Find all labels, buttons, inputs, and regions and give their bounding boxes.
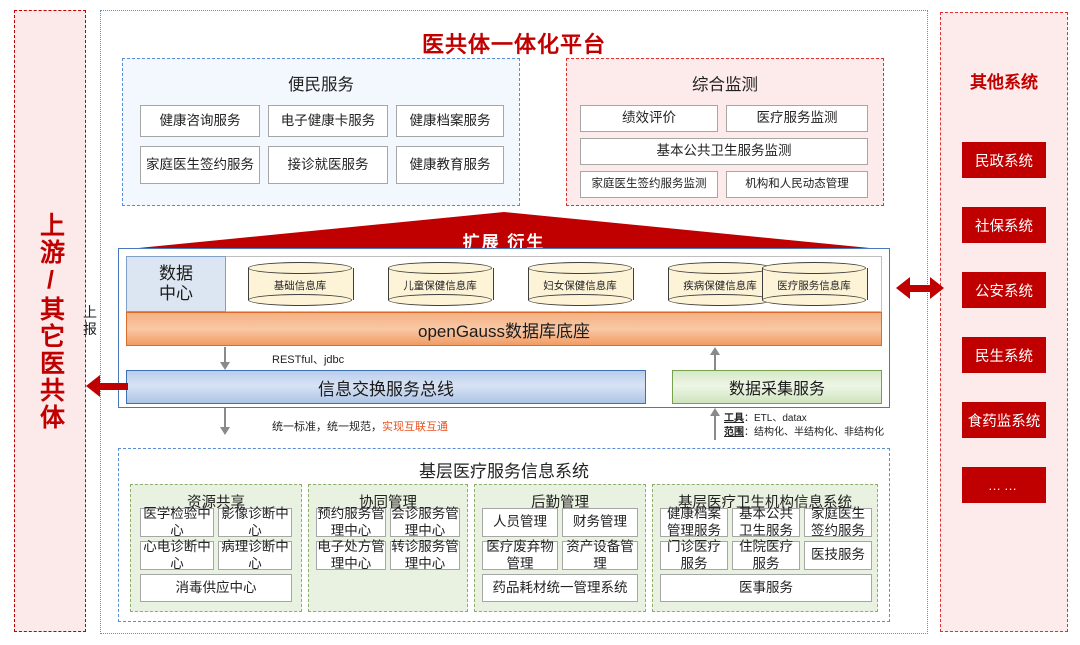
convenience-item-2[interactable]: 健康档案服务 [396,105,504,137]
data-center-label-line2: 中心 [159,284,193,304]
database-label-4: 医疗服务信息库 [762,274,866,296]
grassroots-item-2-1-0[interactable]: 医疗废弃物管理 [482,541,558,570]
annotation-scope-key: 范围 [724,427,744,438]
system-button-minsheng[interactable]: 民生系统 [962,337,1046,373]
grassroots-item-3-0-2[interactable]: 家庭医生签约服务 [804,508,872,537]
grassroots-item-3-2-0[interactable]: 医事服务 [660,574,872,602]
upstream-label: 上游/其它医共体 [14,10,86,632]
convenience-item-3[interactable]: 家庭医生签约服务 [140,146,260,184]
arrow-down-shaft-1 [224,347,226,363]
grassroots-item-1-0-1[interactable]: 会诊服务管理中心 [390,508,460,537]
diagram-canvas: 上游/其它医共体 其他系统 民政系统 社保系统 公安系统 民生系统 食药监系统 … [0,0,1080,645]
database-label-0: 基础信息库 [248,274,352,296]
grassroots-item-3-0-0[interactable]: 健康档案管理服务 [660,508,728,537]
arrow-up-head-1 [710,347,720,355]
annotation-scope-value: ：结构化、半结构化、非结构化 [744,427,884,438]
database-label-3: 疾病保健信息库 [668,274,772,296]
annotation-tool-value: ：ETL、datax [744,413,807,424]
page-title: 医共体一体化平台 [100,27,928,59]
arrow-down-head-2 [220,427,230,435]
monitoring-title: 综合监测 [567,71,883,95]
data-center-label: 数据 中心 [126,256,226,312]
other-systems-title: 其他系统 [940,68,1068,93]
grassroots-item-3-1-0[interactable]: 门诊医疗服务 [660,541,728,570]
annotation-standards-plain: 统一标准，统一规范， [272,421,382,433]
convenience-item-4[interactable]: 接诊就医服务 [268,146,388,184]
other-systems-arrow-head-right [930,277,944,299]
grassroots-item-0-1-0[interactable]: 心电诊断中心 [140,541,214,570]
database-cylinder-1[interactable]: 儿童保健信息库 [388,262,492,306]
system-button-gongan[interactable]: 公安系统 [962,272,1046,308]
grassroots-item-3-1-1[interactable]: 住院医疗服务 [732,541,800,570]
database-cylinder-0[interactable]: 基础信息库 [248,262,352,306]
grassroots-item-2-0-1[interactable]: 财务管理 [562,508,638,537]
monitoring-item-public-health[interactable]: 基本公共卫生服务监测 [580,138,868,165]
database-cylinder-4[interactable]: 医疗服务信息库 [762,262,866,306]
system-button-minzheng[interactable]: 民政系统 [962,142,1046,178]
annotation-restful: RESTful、jdbc [272,351,344,367]
system-button-more[interactable]: …… [962,467,1046,503]
system-button-shebao[interactable]: 社保系统 [962,207,1046,243]
opengauss-base-bar: openGauss数据库底座 [126,312,882,346]
annotation-tools: 工具：ETL、datax 范围：结构化、半结构化、非结构化 [724,412,884,439]
monitoring-item-family-doctor[interactable]: 家庭医生签约服务监测 [580,171,718,198]
monitoring-item-medical-service[interactable]: 医疗服务监测 [726,105,868,132]
other-systems-arrow-head-left [896,277,910,299]
monitoring-item-performance[interactable]: 绩效评价 [580,105,718,132]
grassroots-item-2-2-0[interactable]: 药品耗材统一管理系统 [482,574,638,602]
arrow-up-shaft-1 [714,355,716,371]
other-systems-panel [940,12,1068,632]
convenience-item-5[interactable]: 健康教育服务 [396,146,504,184]
upstream-arrow-shaft [100,383,128,390]
grassroots-item-2-1-1[interactable]: 资产设备管理 [562,541,638,570]
grassroots-item-1-1-1[interactable]: 转诊服务管理中心 [390,541,460,570]
convenience-item-0[interactable]: 健康咨询服务 [140,105,260,137]
grassroots-item-3-0-1[interactable]: 基本公共卫生服务 [732,508,800,537]
annotation-standards: 统一标准，统一规范，实现互联互通 [272,418,448,434]
other-systems-arrow-shaft [908,285,932,292]
grassroots-title: 基层医疗服务信息系统 [118,457,890,482]
data-center-label-line1: 数据 [159,264,193,284]
monitoring-item-org-dynamic[interactable]: 机构和人民动态管理 [726,171,868,198]
grassroots-item-1-1-0[interactable]: 电子处方管理中心 [316,541,386,570]
upstream-arrow-head [86,375,100,397]
convenience-item-1[interactable]: 电子健康卡服务 [268,105,388,137]
grassroots-item-0-0-0[interactable]: 医学检验中心 [140,508,214,537]
information-exchange-bus: 信息交换服务总线 [126,370,646,404]
convenience-services-title: 便民服务 [123,71,519,95]
database-cylinder-2[interactable]: 妇女保健信息库 [528,262,632,306]
grassroots-item-3-1-2[interactable]: 医技服务 [804,541,872,570]
report-label: 上报 [78,304,102,338]
database-cylinder-3[interactable]: 疾病保健信息库 [668,262,772,306]
arrow-down-shaft-2 [224,408,226,428]
annotation-tool-key: 工具 [724,413,744,424]
system-button-shiyaojian[interactable]: 食药监系统 [962,402,1046,438]
grassroots-item-0-2-0[interactable]: 消毒供应中心 [140,574,292,602]
grassroots-item-0-0-1[interactable]: 影像诊断中心 [218,508,292,537]
data-collection-service: 数据采集服务 [672,370,882,404]
grassroots-item-1-0-0[interactable]: 预约服务管理中心 [316,508,386,537]
arrow-up-shaft-2 [714,416,716,440]
arrow-up-head-2 [710,408,720,416]
arrow-down-head-1 [220,362,230,370]
grassroots-item-2-0-0[interactable]: 人员管理 [482,508,558,537]
database-label-1: 儿童保健信息库 [388,274,492,296]
grassroots-item-0-1-1[interactable]: 病理诊断中心 [218,541,292,570]
annotation-standards-highlight: 实现互联互通 [382,421,448,433]
database-label-2: 妇女保健信息库 [528,274,632,296]
